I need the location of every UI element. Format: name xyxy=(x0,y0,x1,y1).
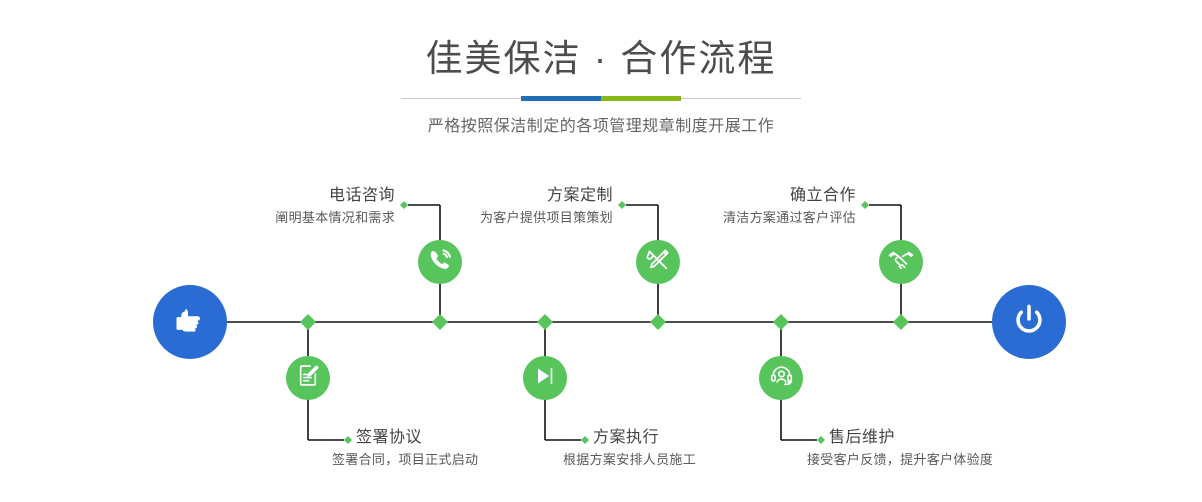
step-icon-5[interactable] xyxy=(879,240,923,284)
power-button-icon xyxy=(1010,301,1048,344)
label-dot-3 xyxy=(618,201,626,209)
customer-service-icon xyxy=(769,363,794,393)
step-label-2: 签署协议 签署合同，项目正式启动 xyxy=(356,428,478,470)
step-title-4: 方案执行 xyxy=(593,428,696,448)
step-label-6: 售后维护 接受客户反馈，提升客户体验度 xyxy=(829,428,993,470)
handshake-icon xyxy=(888,247,914,278)
process-flow-diagram: 电话咨询 阐明基本情况和需求 方案定制 为客户提供项目策策划 确立合作 清洁方案… xyxy=(0,0,1202,502)
flow-start-node[interactable] xyxy=(153,285,227,359)
step-title-3: 方案定制 xyxy=(400,186,613,206)
label-dot-4 xyxy=(581,436,589,444)
phone-call-icon xyxy=(427,247,453,278)
diamond-marker-4 xyxy=(537,314,553,330)
flow-connectors xyxy=(0,0,1202,502)
pointing-hand-icon xyxy=(172,302,208,343)
diamond-marker-1 xyxy=(432,314,448,330)
pencil-ruler-icon xyxy=(645,247,671,278)
step-title-2: 签署协议 xyxy=(356,428,478,448)
step-desc-6: 接受客户反馈，提升客户体验度 xyxy=(807,450,993,470)
step-desc-3: 为客户提供项目策策划 xyxy=(400,208,613,228)
label-dot-2 xyxy=(344,436,352,444)
step-icon-2[interactable] xyxy=(286,356,330,400)
step-title-5: 确立合作 xyxy=(645,186,856,206)
diamond-marker-6 xyxy=(773,314,789,330)
step-label-4: 方案执行 根据方案安排人员施工 xyxy=(593,428,696,470)
step-desc-1: 阐明基本情况和需求 xyxy=(180,208,395,228)
step-label-1: 电话咨询 阐明基本情况和需求 xyxy=(180,186,395,228)
step-title-6: 售后维护 xyxy=(829,428,993,448)
step-label-5: 确立合作 清洁方案通过客户评估 xyxy=(645,186,856,228)
diamond-marker-3 xyxy=(650,314,666,330)
step-desc-4: 根据方案安排人员施工 xyxy=(563,450,696,470)
step-title-1: 电话咨询 xyxy=(180,186,395,206)
step-label-3: 方案定制 为客户提供项目策策划 xyxy=(400,186,613,228)
label-dot-6 xyxy=(817,436,825,444)
flow-end-node[interactable] xyxy=(992,285,1066,359)
step-icon-6[interactable] xyxy=(759,356,803,400)
diamond-marker-5 xyxy=(893,314,909,330)
step-icon-3[interactable] xyxy=(636,240,680,284)
diamond-marker-2 xyxy=(300,314,316,330)
step-desc-5: 清洁方案通过客户评估 xyxy=(645,208,856,228)
label-dot-5 xyxy=(861,201,869,209)
play-skip-icon xyxy=(533,364,557,393)
step-icon-4[interactable] xyxy=(523,356,567,400)
step-icon-1[interactable] xyxy=(418,240,462,284)
step-desc-2: 签署合同，项目正式启动 xyxy=(332,450,478,470)
document-edit-icon xyxy=(296,363,321,393)
